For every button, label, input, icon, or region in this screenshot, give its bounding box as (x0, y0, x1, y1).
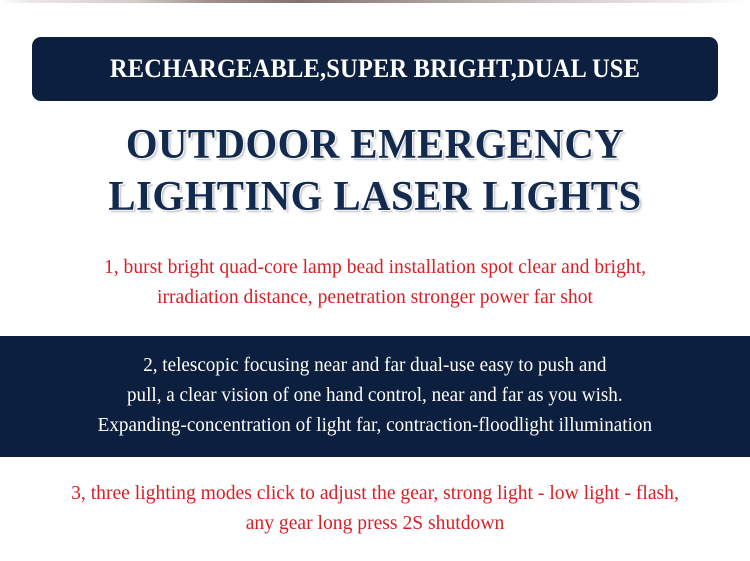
product-description-page: RECHARGEABLE,SUPER BRIGHT,DUAL USE OUTDO… (0, 0, 750, 561)
headline-banner-text: RECHARGEABLE,SUPER BRIGHT,DUAL USE (110, 56, 640, 82)
feature-3: 3, three lighting modes click to adjust … (0, 478, 750, 538)
page-title: OUTDOOR EMERGENCY LIGHTING LASER LIGHTS (0, 119, 750, 223)
top-image-seam (0, 0, 750, 3)
page-title-line-1: OUTDOOR EMERGENCY (11, 119, 739, 171)
feature-1-line-1: 1, burst bright quad-core lamp bead inst… (8, 252, 743, 282)
feature-2-line-2: pull, a clear vision of one hand control… (98, 381, 652, 411)
feature-3-line-1: 3, three lighting modes click to adjust … (8, 478, 743, 508)
headline-banner: RECHARGEABLE,SUPER BRIGHT,DUAL USE (32, 37, 718, 101)
feature-3-line-2: any gear long press 2S shutdown (8, 508, 743, 538)
feature-2-band: 2, telescopic focusing near and far dual… (0, 336, 750, 457)
feature-2: 2, telescopic focusing near and far dual… (92, 351, 658, 441)
feature-1: 1, burst bright quad-core lamp bead inst… (0, 252, 750, 312)
feature-2-line-3: Expanding-concentration of light far, co… (98, 411, 652, 441)
page-title-line-2: LIGHTING LASER LIGHTS (11, 171, 739, 223)
feature-2-line-1: 2, telescopic focusing near and far dual… (98, 351, 652, 381)
feature-1-line-2: irradiation distance, penetration strong… (8, 282, 743, 312)
